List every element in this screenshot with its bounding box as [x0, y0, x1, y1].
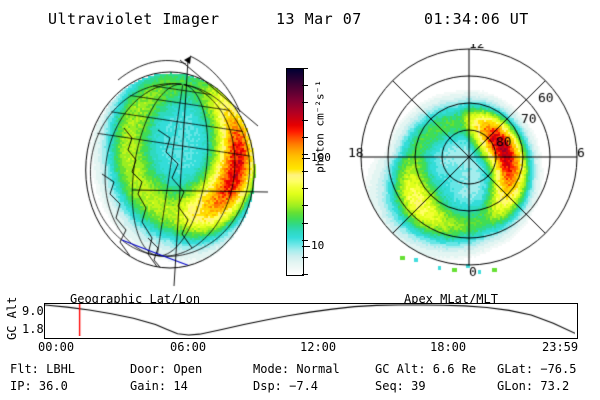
status-row: IP: 36.0Gain: 14Dsp: −7.4Seq: 39GLon: 73…: [10, 379, 600, 396]
status-field: Gain: 14: [130, 379, 188, 393]
status-field: Dsp: −7.4: [253, 379, 318, 393]
status-field: GC Alt: 6.6 Re: [375, 362, 476, 376]
colorbar-minor-tick: [302, 205, 308, 206]
colorbar-minor-tick: [302, 240, 308, 241]
apex-magnetic-image-panel[interactable]: [342, 44, 592, 292]
orbit-xtick-label: 23:59: [542, 340, 578, 354]
observation-time-utc: 01:34:06 UT: [424, 10, 529, 28]
orbit-ytick-low: 1.8: [22, 322, 44, 336]
orbit-xtick-label: 18:00: [430, 340, 466, 354]
status-row: Flt: LBHLDoor: OpenMode: NormalGC Alt: 6…: [10, 362, 600, 379]
status-field: IP: 36.0: [10, 379, 68, 393]
geographic-image-panel[interactable]: [62, 42, 272, 290]
orbit-ytick-high: 9.0: [22, 304, 44, 318]
colorbar-minor-tick: [302, 274, 308, 275]
observation-date: 13 Mar 07: [276, 10, 362, 28]
colorbar-major-tick: [302, 246, 310, 247]
orbit-altitude-chart[interactable]: [44, 303, 578, 339]
colorbar-tick-label: 10: [311, 241, 324, 251]
colorbar-ticks: 10010: [302, 68, 336, 276]
orbit-xtick-label: 00:00: [38, 340, 74, 354]
colorbar-tick-label: 100: [311, 153, 331, 163]
status-field: Flt: LBHL: [10, 362, 75, 376]
status-field: Door: Open: [130, 362, 202, 376]
orbit-y-axis-label: GC Alt: [4, 300, 20, 342]
header-bar: Ultraviolet Imager 13 Mar 07 01:34:06 UT: [0, 6, 600, 32]
colorbar-minor-tick: [302, 120, 308, 121]
colorbar-minor-tick: [302, 171, 308, 172]
orbit-xtick-label: 12:00: [300, 340, 336, 354]
status-field: GLon: 73.2: [497, 379, 569, 393]
status-field: Mode: Normal: [253, 362, 340, 376]
status-field: GLat: −76.5: [497, 362, 576, 376]
colorbar-minor-tick: [302, 188, 308, 189]
page-title: Ultraviolet Imager: [48, 10, 220, 28]
colorbar-major-tick: [302, 158, 310, 159]
colorbar-minor-tick: [302, 137, 308, 138]
colorbar-minor-tick: [302, 68, 308, 69]
orbit-altitude-trace: [45, 304, 575, 336]
orbit-xtick-label: 06:00: [170, 340, 206, 354]
colorbar-minor-tick: [302, 257, 308, 258]
auroral-polar-dial-image[interactable]: [342, 44, 592, 292]
colorbar-minor-tick: [302, 85, 308, 86]
auroral-globe-image[interactable]: [62, 42, 272, 290]
status-field-grid: Flt: LBHLDoor: OpenMode: NormalGC Alt: 6…: [10, 362, 600, 396]
colorbar-minor-tick: [302, 223, 308, 224]
colorbar-minor-tick: [302, 102, 308, 103]
colorbar: photon cm⁻²s⁻¹ 10010: [268, 60, 338, 290]
colorbar-minor-tick: [302, 154, 308, 155]
status-field: Seq: 39: [375, 379, 426, 393]
